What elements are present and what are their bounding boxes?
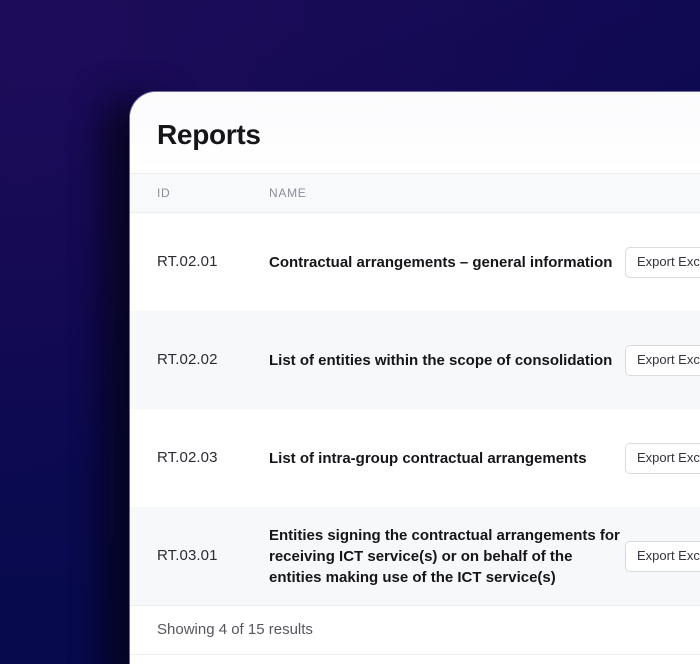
report-name: Contractual arrangements – general infor… <box>269 254 624 271</box>
table-cell-name: List of entities within the scope of con… <box>269 311 625 409</box>
table-cell-id: RT.02.02 <box>130 311 269 409</box>
reports-table: ID NAME RT.02.01 Contractual arrangement… <box>130 173 700 605</box>
reports-card: Reports ID NAME RT.02.01 C <box>130 92 700 664</box>
screenshot-stage: Reports ID NAME RT.02.01 C <box>0 0 700 664</box>
table-row[interactable]: RT.03.01 Entities signing the contractua… <box>130 507 700 605</box>
export-excel-button[interactable]: Export Excel <box>625 345 700 376</box>
table-cell-action: Export Excel <box>625 213 700 312</box>
export-excel-button[interactable]: Export Excel <box>625 247 700 278</box>
column-header-id: ID <box>130 174 269 213</box>
table-row[interactable]: RT.02.03 List of intra-group contractual… <box>130 409 700 507</box>
report-id: RT.02.03 <box>157 449 218 466</box>
table-cell-id: RT.02.01 <box>130 213 269 312</box>
table-row[interactable]: RT.02.02 List of entities within the sco… <box>130 311 700 409</box>
report-id: RT.02.01 <box>157 253 218 270</box>
report-name: List of intra-group contractual arrangem… <box>269 450 599 467</box>
table-cell-name: Contractual arrangements – general infor… <box>269 213 625 312</box>
table-cell-action: Export Excel <box>625 409 700 507</box>
report-id: RT.03.01 <box>157 547 218 564</box>
page-title: Reports <box>130 92 700 152</box>
table-body: RT.02.01 Contractual arrangements – gene… <box>130 213 700 606</box>
table-row[interactable]: RT.02.01 Contractual arrangements – gene… <box>130 213 700 312</box>
table-cell-id: RT.03.01 <box>130 507 269 605</box>
table-head: ID NAME <box>130 174 700 213</box>
table-cell-name: Entities signing the contractual arrange… <box>269 507 625 605</box>
report-name: Entities signing the contractual arrange… <box>269 527 620 586</box>
export-excel-button[interactable]: Export Excel <box>625 443 700 474</box>
table-cell-name: List of intra-group contractual arrangem… <box>269 409 625 507</box>
column-header-action <box>625 174 700 213</box>
report-id: RT.02.02 <box>157 351 218 368</box>
export-excel-button[interactable]: Export Excel <box>625 541 700 572</box>
table-cell-id: RT.02.03 <box>130 409 269 507</box>
table-cell-action: Export Excel <box>625 311 700 409</box>
table-header-row: ID NAME <box>130 174 700 213</box>
results-count-label: Showing 4 of 15 results <box>130 605 700 655</box>
column-header-name: NAME <box>269 174 625 213</box>
report-name: List of entities within the scope of con… <box>269 352 624 369</box>
table-cell-action: Export Excel <box>625 507 700 605</box>
